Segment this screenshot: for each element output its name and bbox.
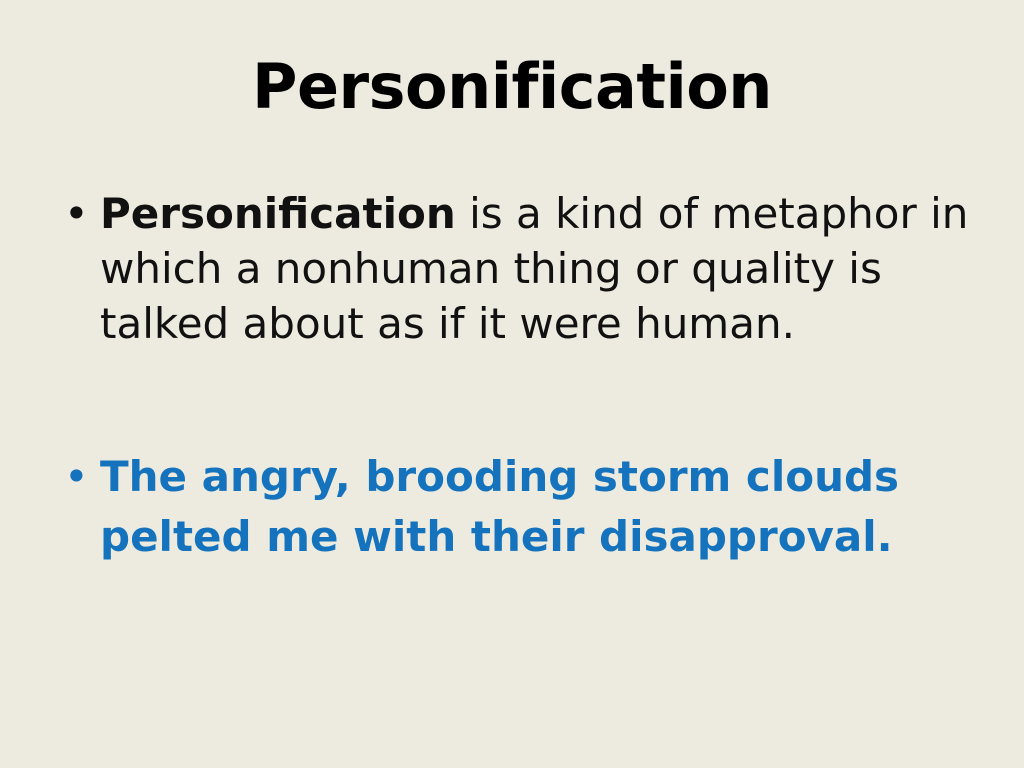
page-title: Personification xyxy=(0,54,1024,119)
list-item: • The angry, brooding storm clouds pelte… xyxy=(58,447,988,567)
bullet-lead-term: Personification xyxy=(100,189,456,238)
bullet-spacer xyxy=(58,351,988,447)
bullet-point-icon: • xyxy=(58,447,100,507)
list-item: • Personification is a kind of metaphor … xyxy=(58,186,988,351)
bullet-point-icon: • xyxy=(58,186,100,241)
bullet-text-example: The angry, brooding storm clouds pelted … xyxy=(100,447,900,567)
slide-canvas: Personification • Personification is a k… xyxy=(0,0,1024,768)
bullet-text-definition: Personification is a kind of metaphor in… xyxy=(100,186,988,351)
slide-body: • Personification is a kind of metaphor … xyxy=(58,186,988,567)
